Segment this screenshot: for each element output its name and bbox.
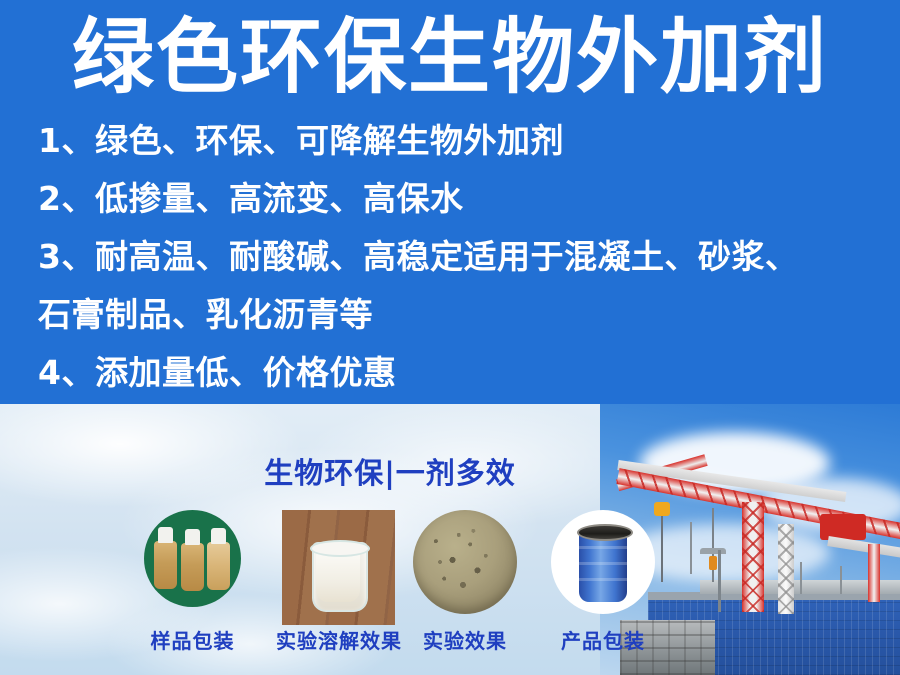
street-lamp-post [718, 550, 721, 612]
rebar-line [840, 566, 842, 594]
crane-cable [712, 508, 714, 582]
dissolution-test-photo [282, 510, 395, 625]
thumbnail-caption: 实验效果 [413, 628, 517, 654]
street-lamp-arm [700, 548, 726, 554]
product-drum-photo [551, 510, 655, 614]
showcase-subtitle: 生物环保|一剂多效 [0, 455, 780, 491]
mortar-texture [413, 510, 517, 614]
feature-item-continuation: 石膏制品、乳化沥青等 [38, 286, 868, 344]
crane-marker [709, 556, 717, 570]
crane-mast [742, 502, 764, 612]
drum-rib [579, 546, 627, 549]
white-emulsion-liquid [316, 552, 360, 602]
crane-hoist-line [661, 510, 663, 582]
feature-item: 4、添加量低、价格优惠 [38, 344, 868, 402]
product-poster: 绿色环保生物外加剂 1、绿色、环保、可降解生物外加剂 2、低掺量、高流变、高保水… [0, 0, 900, 675]
sample-bottle [181, 543, 204, 591]
drum-lid [577, 524, 633, 541]
secondary-crane-mast [868, 544, 880, 602]
feature-list: 1、绿色、环保、可降解生物外加剂 2、低掺量、高流变、高保水 3、耐高温、耐酸碱… [38, 112, 868, 402]
info-panel: 绿色环保生物外加剂 1、绿色、环保、可降解生物外加剂 2、低掺量、高流变、高保水… [0, 0, 900, 404]
sample-bottle [207, 542, 230, 590]
crane-lattice-texture [742, 502, 764, 612]
thumbnail-caption: 产品包装 [551, 628, 655, 654]
thumbnail-caption: 样品包装 [144, 628, 241, 654]
crane-machinery-house [820, 514, 866, 540]
crane-hook [654, 502, 670, 516]
feature-item: 1、绿色、环保、可降解生物外加剂 [38, 112, 868, 170]
crane-cable [690, 522, 692, 574]
glass-rim [310, 540, 370, 557]
sample-bottle [154, 541, 177, 589]
crane-mast-secondary [778, 524, 794, 614]
rebar-line [800, 562, 802, 594]
drum-rib [579, 578, 627, 581]
sample-bottles-photo [144, 510, 241, 607]
thumbnail-caption: 实验溶解效果 [270, 628, 408, 654]
drum-rib [579, 562, 627, 565]
feature-item: 2、低掺量、高流变、高保水 [38, 170, 868, 228]
mortar-sample-photo [413, 510, 517, 614]
feature-item: 3、耐高温、耐酸碱、高稳定适用于混凝土、砂浆、 [38, 228, 868, 286]
page-title: 绿色环保生物外加剂 [0, 12, 900, 104]
